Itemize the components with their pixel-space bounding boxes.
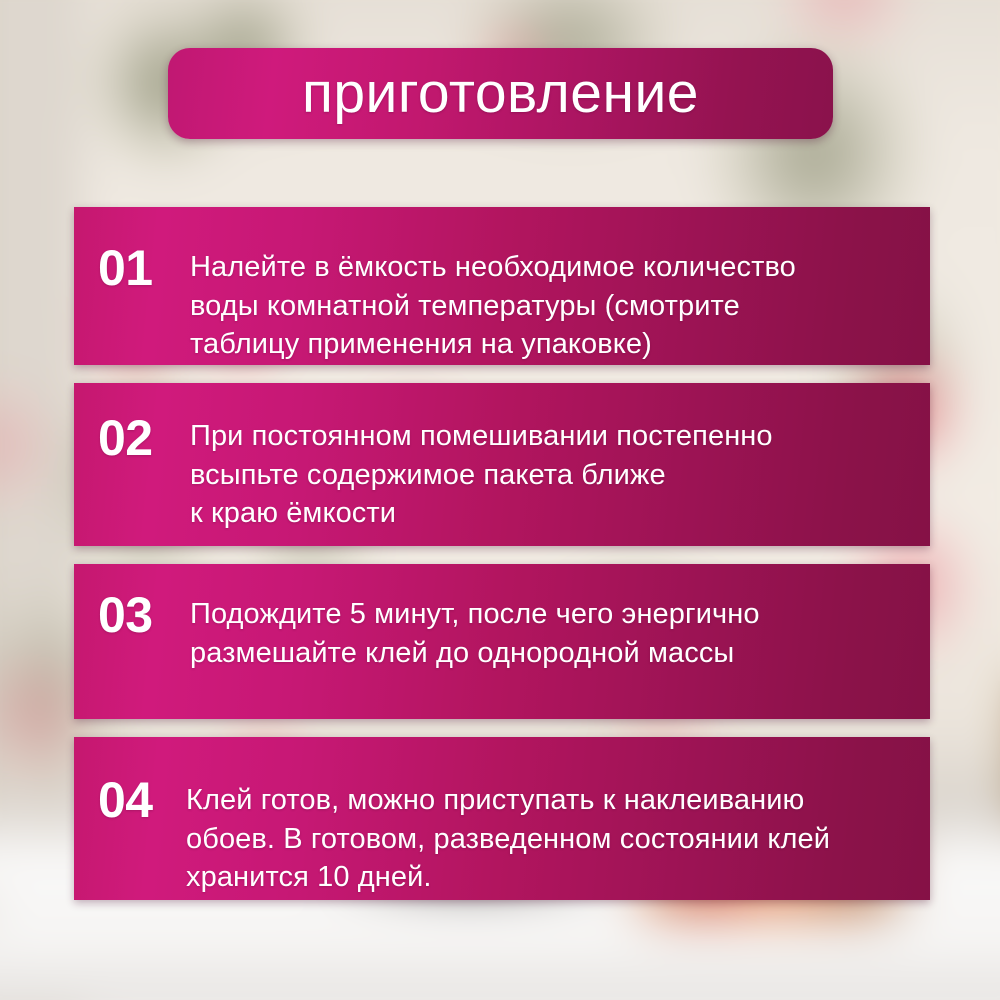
step-number: 04: [98, 757, 186, 825]
step-item: 01 Налейте в ёмкость необходимое количес…: [74, 207, 930, 365]
step-item: 02 При постоянном помешивании постепенно…: [74, 383, 930, 546]
step-number: 03: [98, 584, 190, 640]
step-text: Подождите 5 минут, после чего энергично …: [190, 584, 906, 672]
steps-list: 01 Налейте в ёмкость необходимое количес…: [74, 207, 930, 900]
step-item: 03 Подождите 5 минут, после чего энергич…: [74, 564, 930, 719]
step-number: 01: [98, 227, 190, 293]
step-text: Налейте в ёмкость необходимое количество…: [190, 227, 906, 364]
title-banner: приготовление: [168, 48, 833, 139]
step-text: При постоянном помешивании постепенно вс…: [190, 403, 906, 533]
poster: приготовление 01 Налейте в ёмкость необх…: [0, 0, 1000, 1000]
step-number: 02: [98, 403, 190, 463]
step-item: 04 Клей готов, можно приступать к наклеи…: [74, 737, 930, 900]
page-title: приготовление: [302, 65, 699, 122]
poster-content: приготовление 01 Налейте в ёмкость необх…: [0, 0, 1000, 1000]
step-text: Клей готов, можно приступать к наклеиван…: [186, 757, 906, 897]
